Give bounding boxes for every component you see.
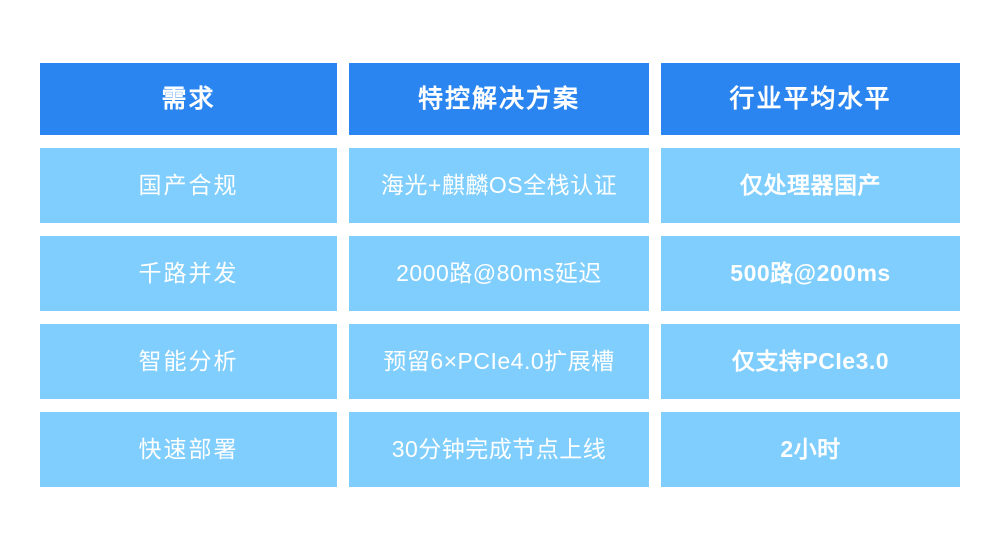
table-row: 智能分析 预留6×PCIe4.0扩展槽 仅支持PCIe3.0 <box>40 324 960 399</box>
table-header-requirement: 需求 <box>40 63 337 135</box>
cell-industry-average: 500路@200ms <box>661 236 960 311</box>
cell-requirement: 国产合规 <box>40 148 337 223</box>
table-header-industry-average: 行业平均水平 <box>661 63 960 135</box>
cell-solution: 2000路@80ms延迟 <box>349 236 649 311</box>
table-row: 千路并发 2000路@80ms延迟 500路@200ms <box>40 236 960 311</box>
cell-solution: 海光+麒麟OS全栈认证 <box>349 148 649 223</box>
table-header-row: 需求 特控解决方案 行业平均水平 <box>40 63 960 135</box>
cell-industry-average: 仅处理器国产 <box>661 148 960 223</box>
table-header-solution: 特控解决方案 <box>349 63 649 135</box>
cell-solution: 预留6×PCIe4.0扩展槽 <box>349 324 649 399</box>
cell-requirement: 快速部署 <box>40 412 337 487</box>
cell-requirement: 千路并发 <box>40 236 337 311</box>
table-row: 国产合规 海光+麒麟OS全栈认证 仅处理器国产 <box>40 148 960 223</box>
table-row: 快速部署 30分钟完成节点上线 2小时 <box>40 412 960 487</box>
cell-industry-average: 2小时 <box>661 412 960 487</box>
cell-solution: 30分钟完成节点上线 <box>349 412 649 487</box>
cell-industry-average: 仅支持PCIe3.0 <box>661 324 960 399</box>
comparison-table: 需求 特控解决方案 行业平均水平 国产合规 海光+麒麟OS全栈认证 仅处理器国产… <box>40 63 960 487</box>
cell-requirement: 智能分析 <box>40 324 337 399</box>
